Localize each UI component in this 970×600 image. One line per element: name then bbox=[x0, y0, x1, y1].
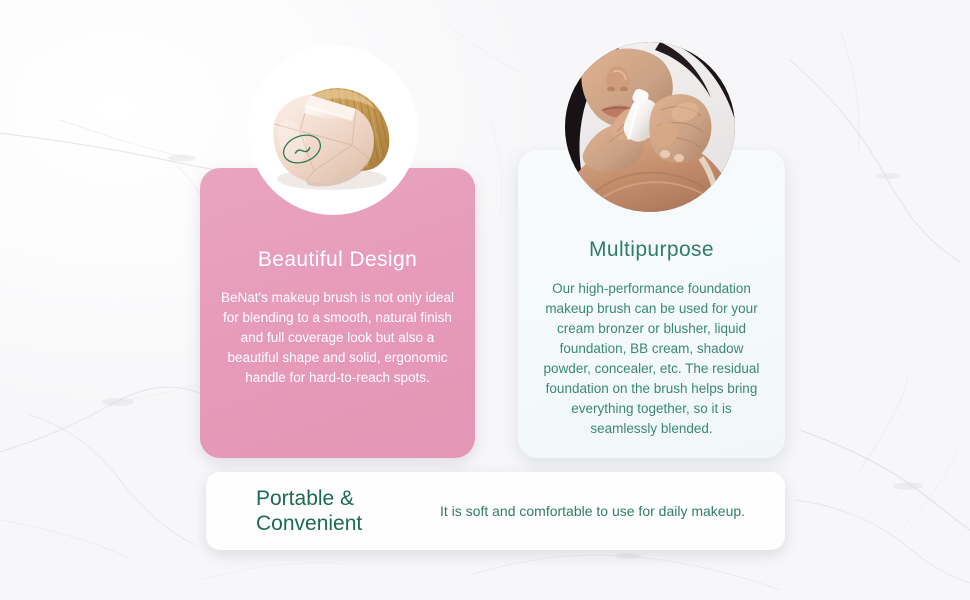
white-card-title: Multipurpose bbox=[518, 238, 785, 262]
makeup-brush-product-image bbox=[248, 45, 418, 215]
model-applying-foundation-image bbox=[565, 42, 735, 212]
feature-card-portable-convenient: Portable & Convenient It is soft and com… bbox=[206, 472, 785, 550]
product-feature-banner: Beautiful Design BeNat's makeup brush is… bbox=[0, 0, 970, 600]
pink-card-body: BeNat's makeup brush is not only ideal f… bbox=[216, 288, 459, 388]
white-card-body: Our high-performance foundation makeup b… bbox=[536, 279, 767, 439]
pink-card-title: Beautiful Design bbox=[200, 248, 475, 272]
bottom-card-body: It is soft and comfortable to use for da… bbox=[440, 500, 770, 522]
model-illustration bbox=[565, 42, 735, 212]
bottom-card-heading: Portable & Convenient bbox=[256, 486, 436, 536]
brush-illustration bbox=[248, 45, 418, 215]
